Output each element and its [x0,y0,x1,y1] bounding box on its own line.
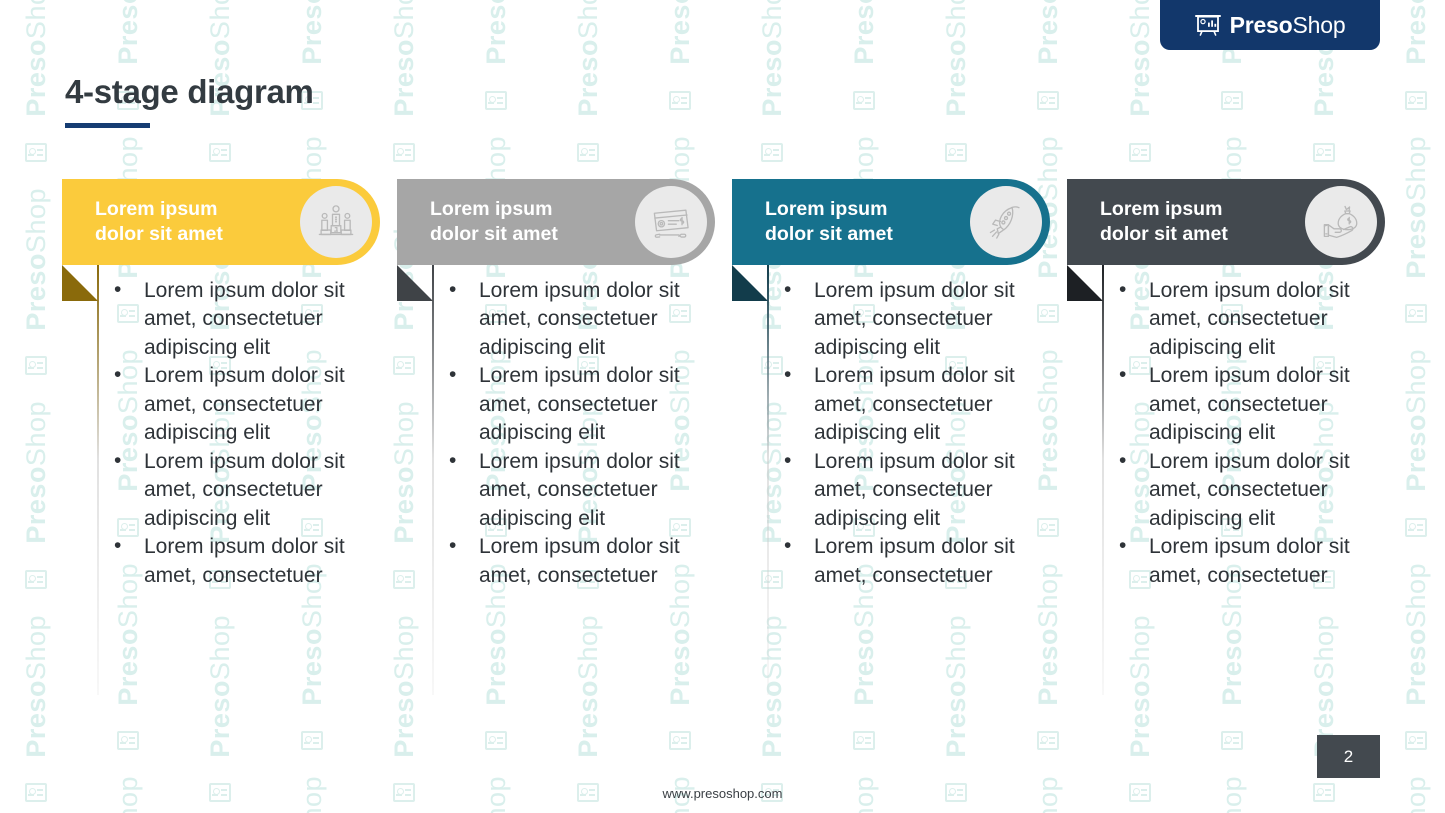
stage-columns: Lorem ipsum dolor sit amet Lorem ipsum d… [0,179,1445,590]
watermark-board-icon [485,91,507,110]
watermark-board-icon [761,143,783,162]
bullet-item: Lorem ipsum dolor sit amet, consectetuer… [1115,277,1395,362]
watermark-board-icon [1129,143,1151,162]
stage-heading: Lorem ipsum dolor sit amet [95,197,223,247]
watermark-text: PresoShop [575,615,602,758]
title-underline-rule [65,123,150,128]
presoshop-logo[interactable]: PresoShop [1160,0,1380,50]
logo-wordmark: PresoShop [1230,14,1346,37]
bullet-item: Lorem ipsum dolor sit amet, consectetuer… [445,277,725,362]
watermark-board-icon [1221,731,1243,750]
watermark-board-icon [853,731,875,750]
watermark-text: PresoShop [1127,0,1154,117]
podium-winners-icon [300,186,372,258]
watermark-text: PresoShop [943,615,970,758]
watermark-board-icon [945,143,967,162]
watermark-text: PresoShop [575,0,602,117]
stage-bullet-list: Lorem ipsum dolor sit amet, consectetuer… [1067,277,1401,590]
watermark-text: PresoShop [299,0,326,65]
watermark-board-icon [1037,731,1059,750]
watermark-text: PresoShop [1403,0,1430,65]
watermark-text: PresoShop [1035,0,1062,65]
watermark-board-icon [393,143,415,162]
bullet-item: Lorem ipsum dolor sit amet, consectetuer… [780,362,1060,447]
watermark-text: PresoShop [207,615,234,758]
logo-name-light: Shop [1293,12,1346,38]
bullet-item: Lorem ipsum dolor sit amet, consectetuer [1115,533,1395,590]
stage-bullet-list: Lorem ipsum dolor sit amet, consectetuer… [397,277,731,590]
watermark-text: PresoShop [115,0,142,65]
watermark-board-icon [1405,731,1427,750]
watermark-text: PresoShop [483,0,510,65]
bullet-item: Lorem ipsum dolor sit amet, consectetuer [110,533,390,590]
bullet-item: Lorem ipsum dolor sit amet, consectetuer… [110,362,390,447]
hand-holding-money-bag-icon [1305,186,1377,258]
bullet-item: Lorem ipsum dolor sit amet, consectetuer… [110,277,390,362]
stage-bullet-list: Lorem ipsum dolor sit amet, consectetuer… [62,277,396,590]
watermark-board-icon [1405,91,1427,110]
bullet-item: Lorem ipsum dolor sit amet, consectetuer… [110,448,390,533]
watermark-text: PresoShop [759,615,786,758]
watermark-board-icon [1037,91,1059,110]
bullet-item: Lorem ipsum dolor sit amet, consectetuer… [445,362,725,447]
bullet-item: Lorem ipsum dolor sit amet, consectetuer [780,533,1060,590]
logo-name-bold: Preso [1230,12,1293,38]
stage-heading: Lorem ipsum dolor sit amet [765,197,893,247]
page-title: 4-stage diagram [65,74,314,110]
bullet-item: Lorem ipsum dolor sit amet, consectetuer… [1115,362,1395,447]
watermark-board-icon [301,731,323,750]
bullet-item: Lorem ipsum dolor sit amet, consectetuer… [780,277,1060,362]
stage-column-1: Lorem ipsum dolor sit amet Lorem ipsum d… [62,179,396,590]
watermark-board-icon [853,91,875,110]
watermark-text: PresoShop [667,0,694,65]
rocket-icon [970,186,1042,258]
watermark-board-icon [485,731,507,750]
stage-bullet-list: Lorem ipsum dolor sit amet, consectetuer… [732,277,1066,590]
watermark-board-icon [1313,143,1335,162]
title-block: 4-stage diagram [65,74,314,128]
stage-column-4: Lorem ipsum dolor sit amet Lorem ipsum d… [1067,179,1401,590]
watermark-text: PresoShop [391,0,418,117]
watermark-text: PresoShop [23,615,50,758]
watermark-text: PresoShop [1127,615,1154,758]
watermark-text: PresoShop [851,0,878,65]
stage-banner-1[interactable]: Lorem ipsum dolor sit amet [62,179,380,265]
watermark-board-icon [669,731,691,750]
watermark-text: PresoShop [943,0,970,117]
watermark-board-icon [25,143,47,162]
stage-column-2: Lorem ipsum dolor sit amet Lorem ipsum d… [397,179,731,590]
stage-banner-2[interactable]: Lorem ipsum dolor sit amet [397,179,715,265]
watermark-text: PresoShop [23,0,50,117]
bullet-item: Lorem ipsum dolor sit amet, consectetuer… [1115,448,1395,533]
cheque-and-pen-icon [635,186,707,258]
watermark-board-icon [209,143,231,162]
page-number-badge: 2 [1317,735,1380,778]
stage-column-3: Lorem ipsum dolor sit amet Lorem ipsum d… [732,179,1066,590]
stage-heading: Lorem ipsum dolor sit amet [1100,197,1228,247]
stage-heading: Lorem ipsum dolor sit amet [430,197,558,247]
presentation-board-icon [1195,14,1221,36]
slide-canvas: PresoShopPresoShopPresoShopPresoShopPres… [0,0,1445,813]
watermark-text: PresoShop [759,0,786,117]
watermark-text: PresoShop [391,615,418,758]
watermark-board-icon [669,91,691,110]
bullet-item: Lorem ipsum dolor sit amet, consectetuer… [780,448,1060,533]
stage-banner-3[interactable]: Lorem ipsum dolor sit amet [732,179,1050,265]
watermark-board-icon [1221,91,1243,110]
watermark-board-icon [117,731,139,750]
footer-url: www.presoshop.com [0,786,1445,801]
bullet-item: Lorem ipsum dolor sit amet, consectetuer [445,533,725,590]
watermark-board-icon [577,143,599,162]
stage-banner-4[interactable]: Lorem ipsum dolor sit amet [1067,179,1385,265]
bullet-item: Lorem ipsum dolor sit amet, consectetuer… [445,448,725,533]
